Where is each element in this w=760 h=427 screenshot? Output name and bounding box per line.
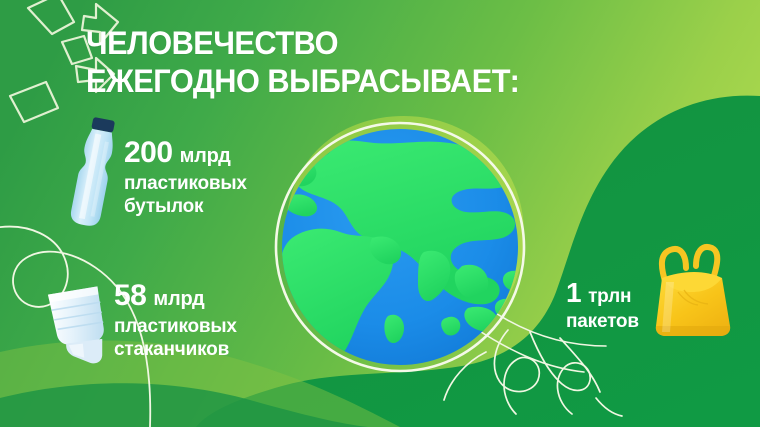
stat-bags: 1 трлн пакетов [566, 279, 639, 333]
stat-bottles-unit: млрд [180, 146, 231, 166]
headline-line-1: ЧЕЛОВЕЧЕСТВО [86, 25, 338, 61]
stat-cups-description: пластиковых стаканчиков [114, 315, 237, 361]
stat-bottles-description: пластиковых бутылок [124, 172, 247, 218]
page-title: ЧЕЛОВЕЧЕСТВО ЕЖЕГОДНО ВЫБРАСЫВАЕТ: [86, 24, 662, 100]
infographic-canvas: ЧЕЛОВЕЧЕСТВО ЕЖЕГОДНО ВЫБРАСЫВАЕТ: 200 м… [0, 0, 760, 427]
stat-cups-unit: млрд [153, 289, 204, 309]
headline-line-2: ЕЖЕГОДНО ВЫБРАСЫВАЕТ: [86, 62, 662, 100]
stat-bags-headline: 1 трлн [566, 279, 639, 307]
stat-bottles-value: 200 [124, 138, 173, 168]
stat-bags-value: 1 [566, 279, 581, 307]
stat-bottles: 200 млрд пластиковых бутылок [124, 138, 247, 218]
stat-bags-description: пакетов [566, 311, 639, 333]
stat-cups: 58 млрд пластиковых стаканчиков [114, 281, 237, 361]
stat-bags-unit: трлн [588, 287, 631, 306]
stat-bottles-headline: 200 млрд [124, 138, 247, 168]
stat-cups-value: 58 [114, 281, 146, 311]
stat-cups-headline: 58 млрд [114, 281, 237, 311]
